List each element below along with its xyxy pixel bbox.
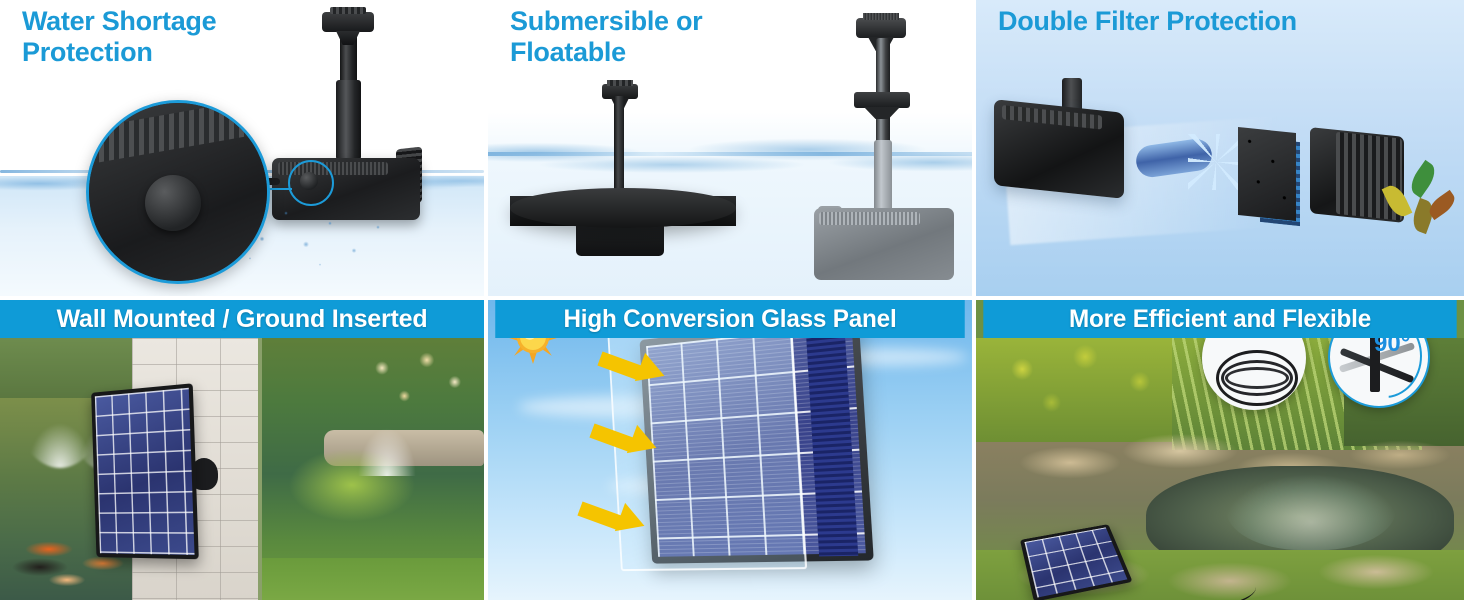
submerged-pump-icon — [814, 208, 954, 280]
fountain-nozzle-icon — [322, 12, 374, 32]
panel-title-submersible: Submersible or Floatable — [510, 6, 702, 69]
floating-disc-icon — [510, 188, 736, 228]
solar-cells — [95, 388, 195, 555]
wave-texture — [488, 130, 972, 186]
filter-cage-icon — [1310, 127, 1404, 223]
zoomed-sensor-knob — [145, 175, 201, 231]
panel-banner-wall-mounted: Wall Mounted / Ground Inserted — [0, 300, 484, 338]
impeller-blades-icon — [1188, 134, 1244, 190]
water-surface-line — [488, 152, 972, 156]
panel-water-shortage: Water Shortage Protection — [0, 0, 484, 296]
fountain-jet — [344, 346, 430, 476]
panel-banner-efficient-flexible: More Efficient and Flexible — [983, 300, 1456, 338]
submerged-nozzle-icon — [856, 18, 906, 38]
fountain-dome-spray — [1226, 458, 1396, 550]
yellow-bush — [976, 338, 1186, 442]
sponge-filter-icon — [1238, 127, 1296, 221]
panel-title-water-shortage: Water Shortage Protection — [22, 6, 216, 69]
pump-body-icon — [994, 99, 1124, 199]
panel-double-filter: Double Filter Protection — [976, 0, 1464, 296]
coiled-cable-icon — [1216, 350, 1298, 406]
panel-banner-glass-panel: High Conversion Glass Panel — [495, 300, 964, 338]
solar-panel-icon — [91, 383, 199, 559]
submerged-stem-lower — [874, 140, 892, 216]
stem-collar — [854, 92, 910, 108]
panel-glass-panel: High Conversion Glass Panel — [488, 300, 972, 600]
float-stem — [614, 96, 624, 194]
panel-title-double-filter: Double Filter Protection — [998, 6, 1297, 37]
garden-pond-fountain-photo — [262, 338, 484, 600]
panel-submersible: Submersible or Floatable — [488, 0, 972, 296]
panel-wall-mounted: Wall Mounted / Ground Inserted — [0, 300, 484, 600]
pump-stem-lower — [336, 80, 361, 160]
infographic-board: Water Shortage Protection Submersible or… — [0, 0, 1464, 600]
lawn-grass — [262, 558, 484, 600]
magnifier-circle-icon — [86, 100, 270, 284]
panel-efficient-flexible: 9.85ft 90° More Efficient and Flexible — [976, 300, 1464, 600]
